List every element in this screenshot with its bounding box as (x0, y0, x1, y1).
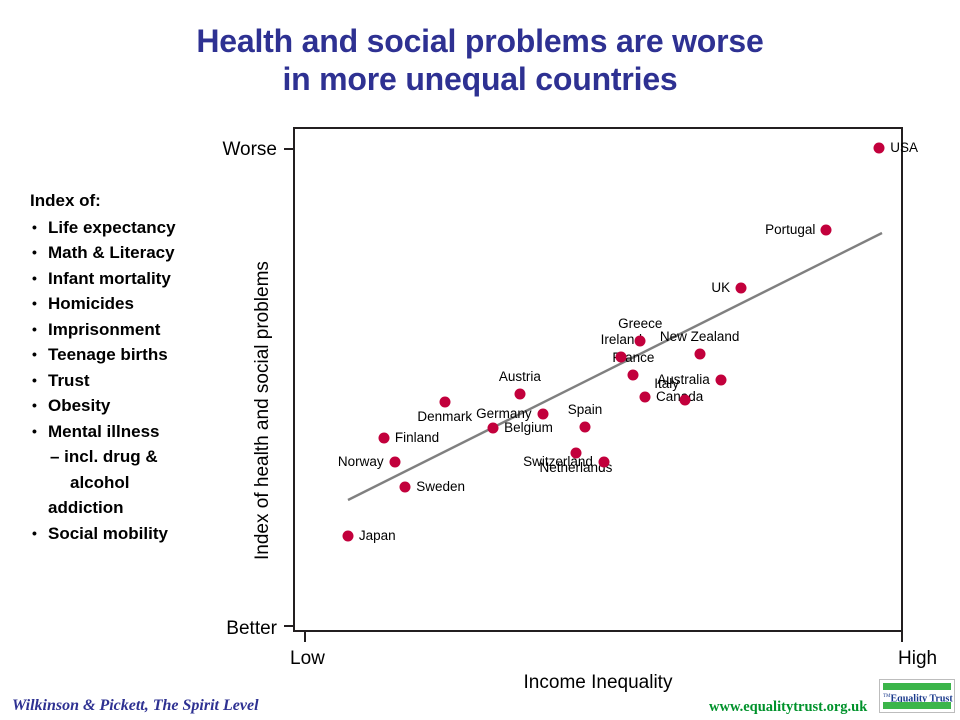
website-url[interactable]: www.equalitytrust.org.uk (709, 699, 867, 716)
data-point-label-sweden: Sweden (416, 480, 465, 494)
data-point-label-usa: USA (890, 141, 918, 155)
data-point-canada[interactable] (639, 391, 650, 402)
data-point-label-new-zealand: New Zealand (660, 330, 740, 344)
y-tick-worse (284, 148, 293, 150)
data-point-label-uk: UK (711, 281, 730, 295)
logo-bar-bottom (883, 702, 951, 709)
data-point-belgium[interactable] (488, 422, 499, 433)
data-point-japan[interactable] (342, 531, 353, 542)
data-point-finland[interactable] (378, 433, 389, 444)
data-point-label-spain: Spain (568, 403, 603, 417)
data-point-ireland[interactable] (616, 351, 627, 362)
data-point-spain[interactable] (580, 421, 591, 432)
logo-bar-top (883, 683, 951, 690)
data-point-switzerland[interactable] (599, 456, 610, 467)
data-point-norway[interactable] (389, 457, 400, 468)
data-point-portugal[interactable] (821, 224, 832, 235)
x-tick-low (304, 632, 306, 642)
y-axis-title: Index of health and social problems (252, 261, 274, 560)
data-point-label-australia: Australia (657, 373, 710, 387)
slide-canvas: Health and social problems are worse in … (0, 0, 960, 720)
x-axis-label-low: Low (290, 648, 325, 670)
data-point-label-switzerland: Switzerland (523, 455, 593, 469)
data-point-denmark[interactable] (439, 397, 450, 408)
data-point-label-japan: Japan (359, 529, 396, 543)
x-axis-label-high: High (898, 648, 937, 670)
data-point-label-germany: Germany (476, 407, 532, 421)
data-point-usa[interactable] (874, 143, 885, 154)
data-point-label-belgium: Belgium (504, 421, 553, 435)
plot-area (293, 127, 903, 632)
data-point-france[interactable] (628, 369, 639, 380)
y-tick-better (284, 625, 293, 627)
y-axis-label-better: Better (226, 618, 277, 640)
equality-trust-logo: TMEquality Trust (879, 679, 955, 713)
data-point-label-denmark: Denmark (417, 410, 472, 424)
data-point-greece[interactable] (635, 335, 646, 346)
data-point-austria[interactable] (514, 388, 525, 399)
logo-text: TMEquality Trust (883, 691, 952, 702)
data-point-italy[interactable] (680, 394, 691, 405)
data-point-germany[interactable] (538, 408, 549, 419)
data-point-label-greece: Greece (618, 317, 662, 331)
y-axis-label-worse: Worse (222, 139, 277, 161)
data-point-label-austria: Austria (499, 370, 541, 384)
data-point-label-portugal: Portugal (765, 223, 815, 237)
data-point-label-norway: Norway (338, 455, 384, 469)
data-point-australia[interactable] (716, 374, 727, 385)
data-point-uk[interactable] (736, 282, 747, 293)
source-credit: Wilkinson & Pickett, The Spirit Level (12, 697, 259, 715)
data-point-sweden[interactable] (400, 482, 411, 493)
x-tick-high (901, 632, 903, 642)
x-axis-title: Income Inequality (293, 672, 903, 694)
data-point-new-zealand[interactable] (694, 348, 705, 359)
data-point-label-finland: Finland (395, 431, 439, 445)
scatter-chart: Worse Better Low High Index of health an… (0, 0, 960, 720)
logo-tm-mark: TM (883, 694, 891, 699)
